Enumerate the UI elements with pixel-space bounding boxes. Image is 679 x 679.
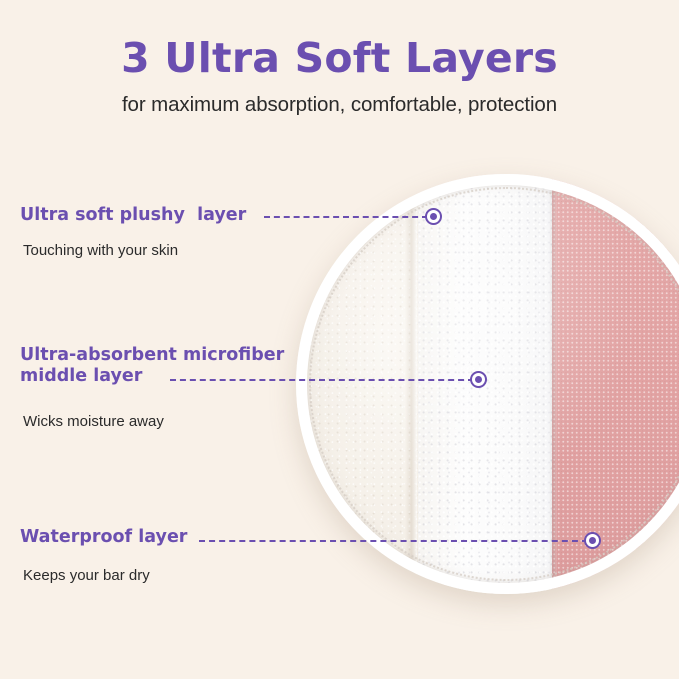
layer-marker-2-icon (470, 371, 487, 388)
leader-line-3 (199, 540, 588, 542)
layer-marker-1-icon (425, 208, 442, 225)
callout-2-subtitle: Wicks moisture away (23, 413, 284, 430)
product-image (296, 174, 679, 594)
page-subtitle: for maximum absorption, comfortable, pro… (0, 93, 679, 117)
callout-3-title: Waterproof layer (20, 527, 187, 548)
leader-line-1 (264, 216, 428, 218)
header: 3 Ultra Soft Layers for maximum absorpti… (0, 34, 679, 117)
callout-2-title: Ultra-absorbent microfiber middle layer (20, 345, 284, 388)
callout-waterproof-layer: Waterproof layer Keeps your bar dry (20, 527, 187, 584)
callout-3-subtitle: Keeps your bar dry (23, 567, 187, 584)
waterproof-backing-layer (552, 174, 679, 594)
callout-1-subtitle: Touching with your skin (23, 242, 246, 259)
pad-body (296, 174, 679, 594)
callout-1-title: Ultra soft plushy layer (20, 205, 246, 226)
page-title: 3 Ultra Soft Layers (0, 34, 679, 82)
infographic-canvas: 3 Ultra Soft Layers for maximum absorpti… (0, 0, 679, 679)
callout-plush-layer: Ultra soft plushy layer Touching with yo… (20, 205, 246, 259)
plush-outer-layer (296, 174, 418, 594)
callout-microfiber-layer: Ultra-absorbent microfiber middle layer … (20, 345, 284, 430)
layer-marker-3-icon (584, 532, 601, 549)
